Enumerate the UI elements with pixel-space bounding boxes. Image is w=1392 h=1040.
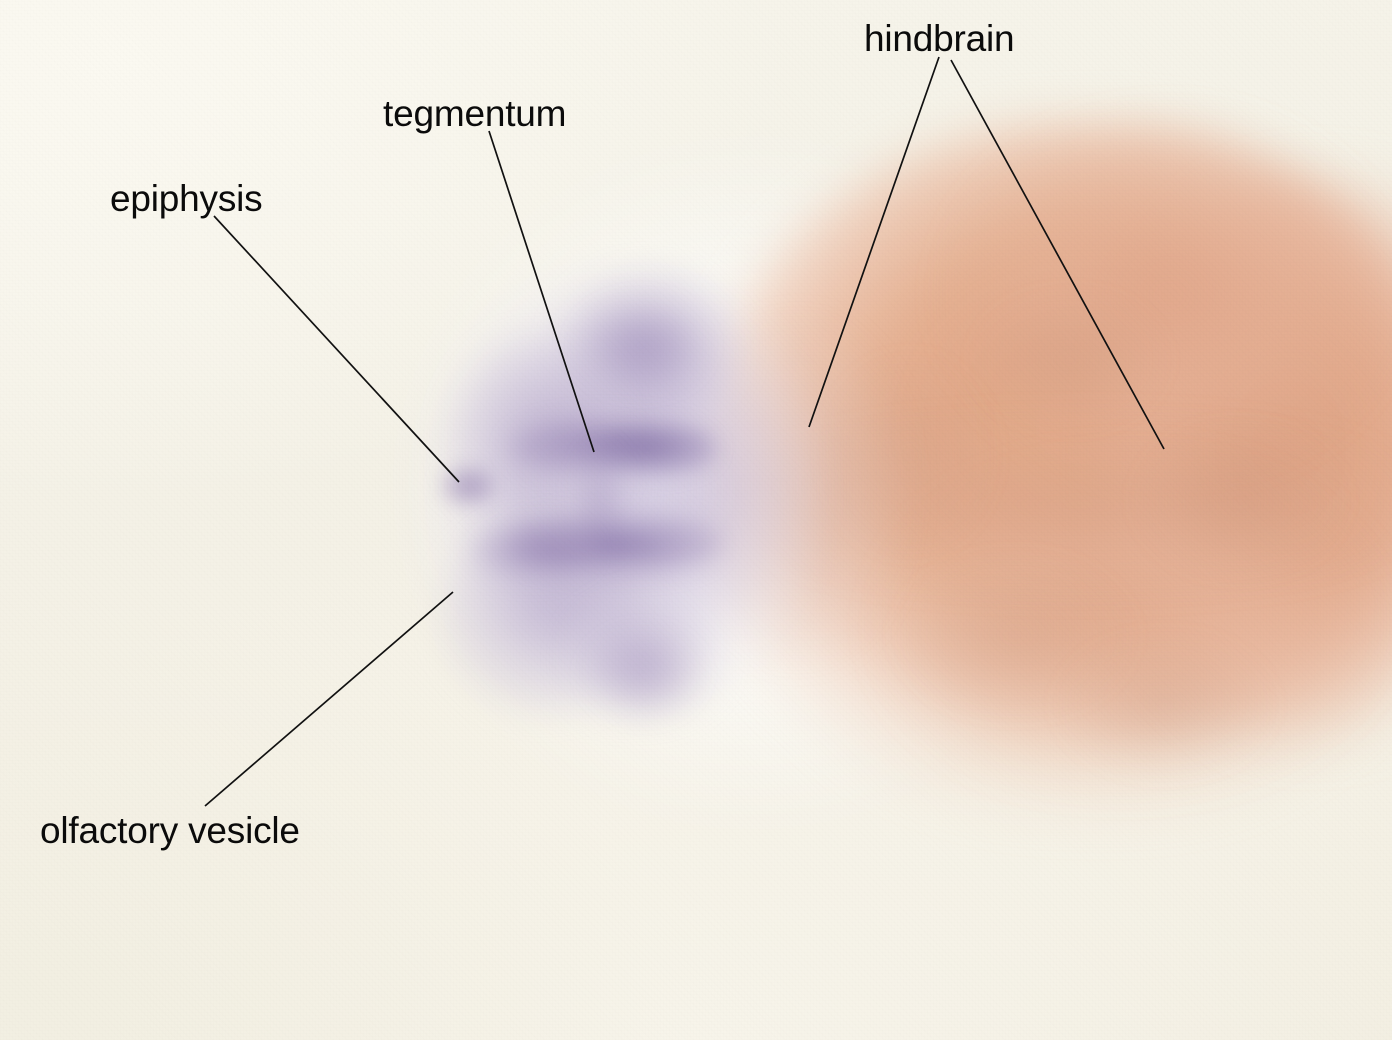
leader-line-hindbrain-right [951,60,1164,449]
leader-line-tegmentum [489,131,594,452]
leader-line-hindbrain-left [809,57,939,427]
annotated-micrograph-figure: epiphysis tegmentum hindbrain olfactory … [0,0,1392,1040]
leader-line-olfactory-vesicle [205,592,453,806]
label-tegmentum: tegmentum [383,95,566,132]
label-epiphysis: epiphysis [110,180,262,217]
label-hindbrain: hindbrain [864,20,1014,57]
label-olfactory-vesicle: olfactory vesicle [40,812,300,849]
leader-line-overlay [0,0,1392,1040]
leader-line-epiphysis [214,216,459,482]
